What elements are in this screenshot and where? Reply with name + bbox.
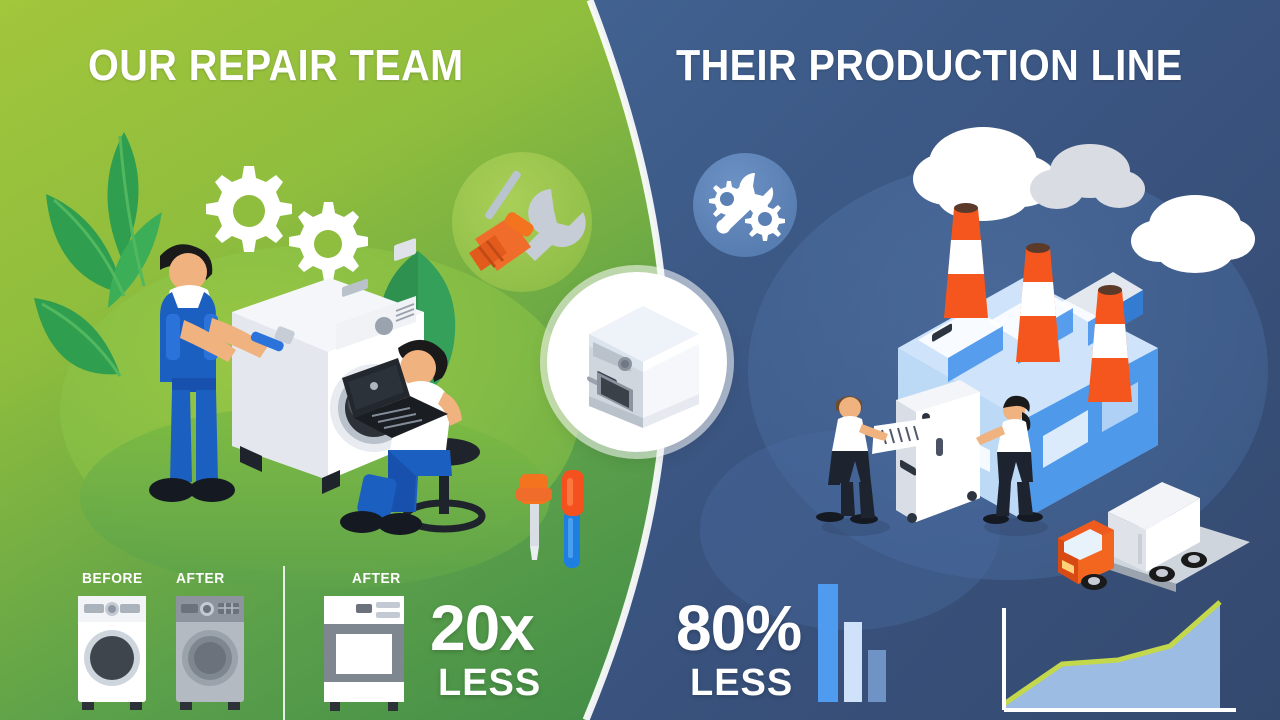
bar-chart <box>818 580 890 706</box>
screwdriver-silver <box>516 474 552 560</box>
left-panel-title: OUR REPAIR TEAM <box>88 44 464 88</box>
center-oven-badge <box>547 272 727 452</box>
delivery-truck <box>1040 450 1270 605</box>
oven-isometric-icon <box>547 272 727 452</box>
bar-chart-bars <box>818 584 886 702</box>
male-factory-worker <box>816 396 888 524</box>
oven-range-icon <box>318 592 410 714</box>
screwdriver-icon <box>469 170 536 271</box>
infographic-canvas: OUR REPAIR TEAM THEIR PRODUCTION LINE BE… <box>0 0 1280 720</box>
wrench-gears-badge <box>693 153 797 257</box>
left-highlight-value: 20x <box>430 596 534 660</box>
seated-laptop-worker <box>326 330 526 550</box>
factory-workers-scene <box>808 372 1078 552</box>
area-chart-fill <box>1004 602 1220 710</box>
highlight-after-label: AFTER <box>352 570 401 587</box>
stat-divider <box>283 566 285 720</box>
screwdriver-pair-icon <box>512 462 602 582</box>
repair-technician <box>126 232 296 542</box>
left-highlight-unit: LESS <box>438 664 541 702</box>
right-panel-title: THEIR PRODUCTION LINE <box>676 44 1183 88</box>
right-highlight-unit: LESS <box>690 664 793 702</box>
bar-2 <box>844 622 862 702</box>
bar-1 <box>818 584 838 702</box>
screwdriver-wrench-icons <box>455 155 595 290</box>
screwdriver-blue <box>562 470 584 568</box>
washing-machine-after-icon <box>170 592 250 712</box>
area-chart <box>988 592 1258 720</box>
female-factory-worker <box>976 396 1043 524</box>
wrench-gears-icon <box>693 153 797 257</box>
before-label: BEFORE <box>82 570 143 587</box>
washing-machine-before-icon <box>72 592 152 712</box>
right-highlight-value: 80% <box>676 596 801 660</box>
after-label: AFTER <box>176 570 225 587</box>
bar-3 <box>868 650 886 702</box>
